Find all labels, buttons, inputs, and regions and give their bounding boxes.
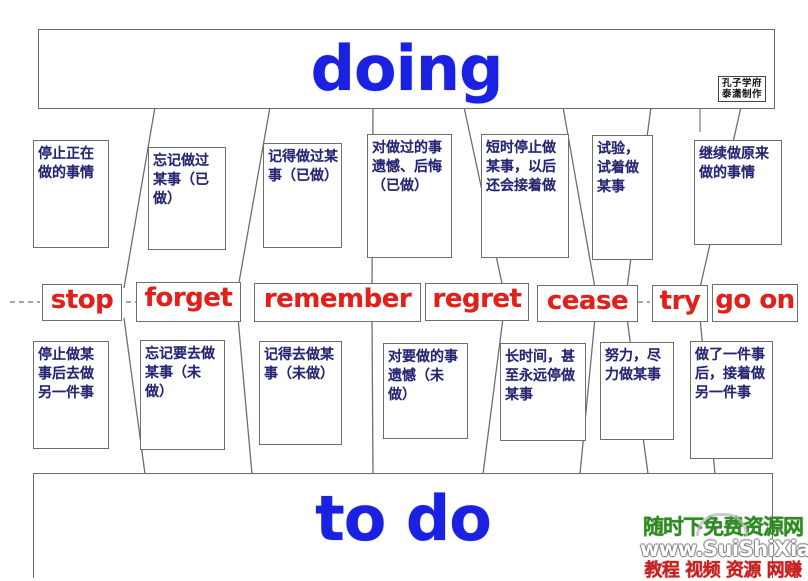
site-watermark: 随时下免费资源网 www.SuiShiXia.com 教程 视频 资源 网赚 [640, 517, 806, 580]
todo-meaning-try: 努力，尽力做某事 [600, 342, 674, 440]
verb-try[interactable]: try [652, 285, 708, 322]
doing-meaning-cease: 短时停止做某事，以后还会接着做 [481, 134, 569, 258]
diagram-canvas: doing 孔子学府 泰潇制作 停止正在做的事情 忘记做过某事（已做） 记得做过… [0, 0, 808, 581]
verb-remember[interactable]: remember [254, 283, 421, 322]
todo-meaning-cease: 长时间，甚至永远停做某事 [500, 343, 586, 441]
publisher-stamp: 孔子学府 泰潇制作 [718, 76, 766, 102]
verb-stop[interactable]: stop [42, 284, 122, 321]
divider-2-lower [238, 318, 252, 474]
todo-meaning-remember: 记得去做某事（未做） [259, 341, 342, 445]
doing-meaning-remember: 记得做过某事（已做） [263, 143, 342, 248]
verb-forget[interactable]: forget [136, 282, 241, 322]
doing-meaning-regret: 对做过的事遗憾、后悔（已做） [367, 134, 452, 258]
todo-meaning-goon: 做了一件事后，接着做另一件事 [690, 341, 773, 459]
stamp-line-1: 孔子学府 [722, 78, 762, 89]
doing-meaning-try: 试验，试着做某事 [592, 135, 653, 260]
verb-goon[interactable]: go on [712, 284, 798, 322]
doing-meaning-stop: 停止正在做的事情 [33, 140, 109, 248]
divider-3-lower [372, 318, 373, 474]
doing-meaning-goon: 继续做原来做的事情 [694, 140, 782, 245]
stamp-line-2: 泰潇制作 [722, 89, 762, 100]
todo-meaning-forget: 忘记要去做某事（未做） [140, 340, 225, 450]
watermark-url: www.SuiShiXia.com [640, 539, 806, 560]
watermark-line-3: 教程 视频 资源 网赚 [640, 562, 806, 580]
doing-meaning-forget: 忘记做过某事（已做） [148, 147, 226, 250]
banner-doing-label: doing [39, 32, 774, 106]
todo-meaning-regret: 对要做的事遗憾（未做） [383, 343, 468, 439]
todo-meaning-stop: 停止做某事后去做另一件事 [33, 341, 109, 449]
verb-regret[interactable]: regret [425, 283, 529, 321]
banner-doing: doing 孔子学府 泰潇制作 [38, 29, 775, 109]
verb-cease[interactable]: cease [537, 285, 638, 322]
